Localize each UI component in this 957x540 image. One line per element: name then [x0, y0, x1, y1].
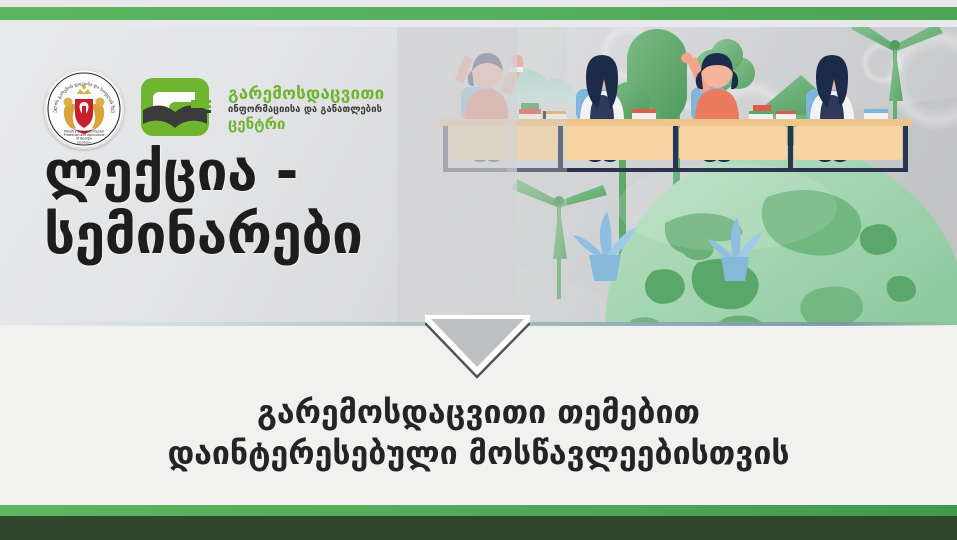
subtitle-caption: გარემოსდაცვითი თემებით დაინტერესებული მო… — [0, 392, 957, 473]
chevron-down-icon — [425, 315, 530, 379]
title-line-2: სემინარები — [44, 203, 514, 266]
slide-canvas: საქართველოს გარემოს დაცვისა და სოფლის მე… — [0, 0, 957, 540]
logo-line-2: ინფორმაციისა და განათლების — [228, 103, 384, 117]
top-green-bar — [0, 7, 957, 20]
center-logo-text: გარემოსდაცვითი ინფორმაციისა და განათლები… — [228, 85, 384, 133]
upper-panel: საქართველოს გარემოს დაცვისა და სოფლის მე… — [0, 27, 957, 325]
page-title: ლექცია - სემინარები — [44, 140, 514, 265]
bottom-green-bar — [0, 505, 957, 516]
georgia-ministry-seal: საქართველოს გარემოს დაცვისა და სოფლის მე… — [44, 69, 124, 149]
center-logo-mark — [139, 74, 211, 144]
header-logos: საქართველოს გარემოს დაცვისა და სოფლის მე… — [44, 69, 384, 149]
logo-line-3: ცენტრი — [228, 116, 384, 133]
bottom-dark-green-bar — [0, 516, 957, 540]
caption-line-2: დაინტერესებული მოსწავლეებისთვის — [0, 433, 957, 474]
top-light-strip — [0, 0, 957, 7]
title-line-1: ლექცია - — [44, 140, 514, 203]
top-light-strip-2 — [0, 20, 957, 27]
caption-line-1: გარემოსდაცვითი თემებით — [0, 392, 957, 433]
logo-line-1: გარემოსდაცვითი — [228, 85, 384, 103]
